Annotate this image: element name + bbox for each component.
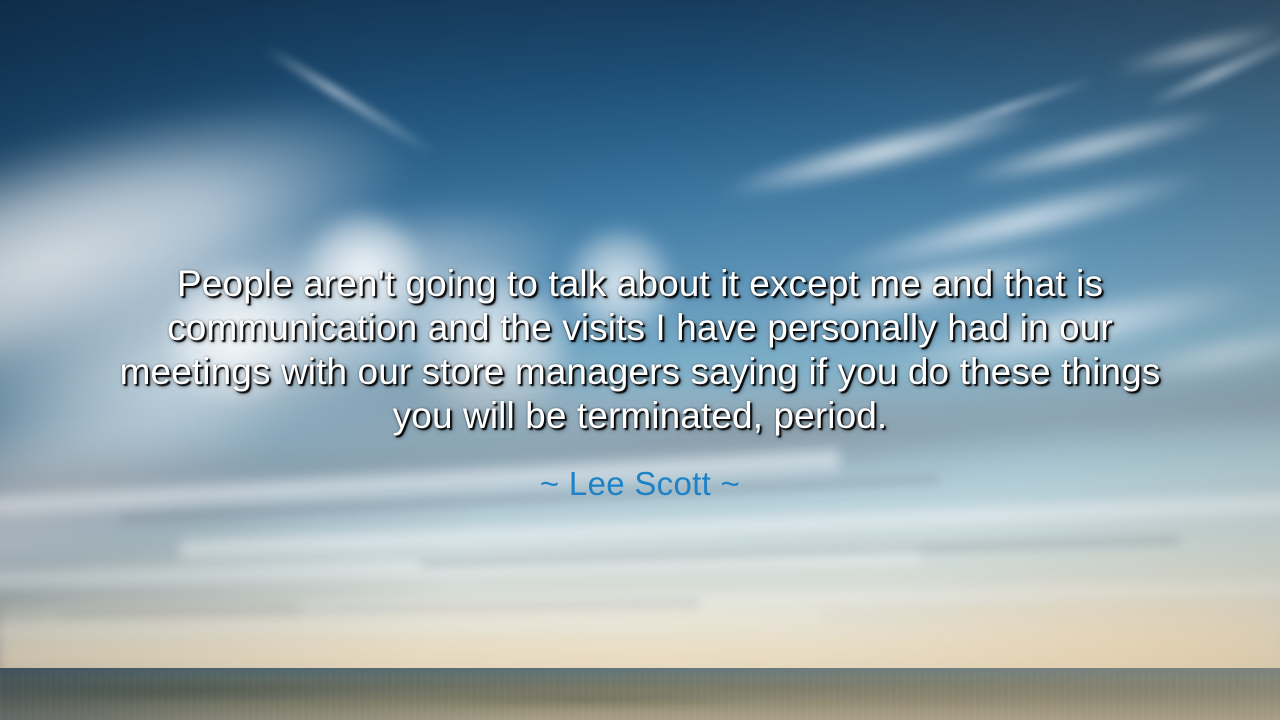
quote-block: People aren't going to talk about it exc…: [100, 262, 1180, 504]
quote-text: People aren't going to talk about it exc…: [100, 262, 1180, 438]
landscape-texture: [0, 672, 1280, 720]
quote-attribution: ~ Lee Scott ~: [100, 438, 1180, 504]
quote-image-canvas: People aren't going to talk about it exc…: [0, 0, 1280, 720]
